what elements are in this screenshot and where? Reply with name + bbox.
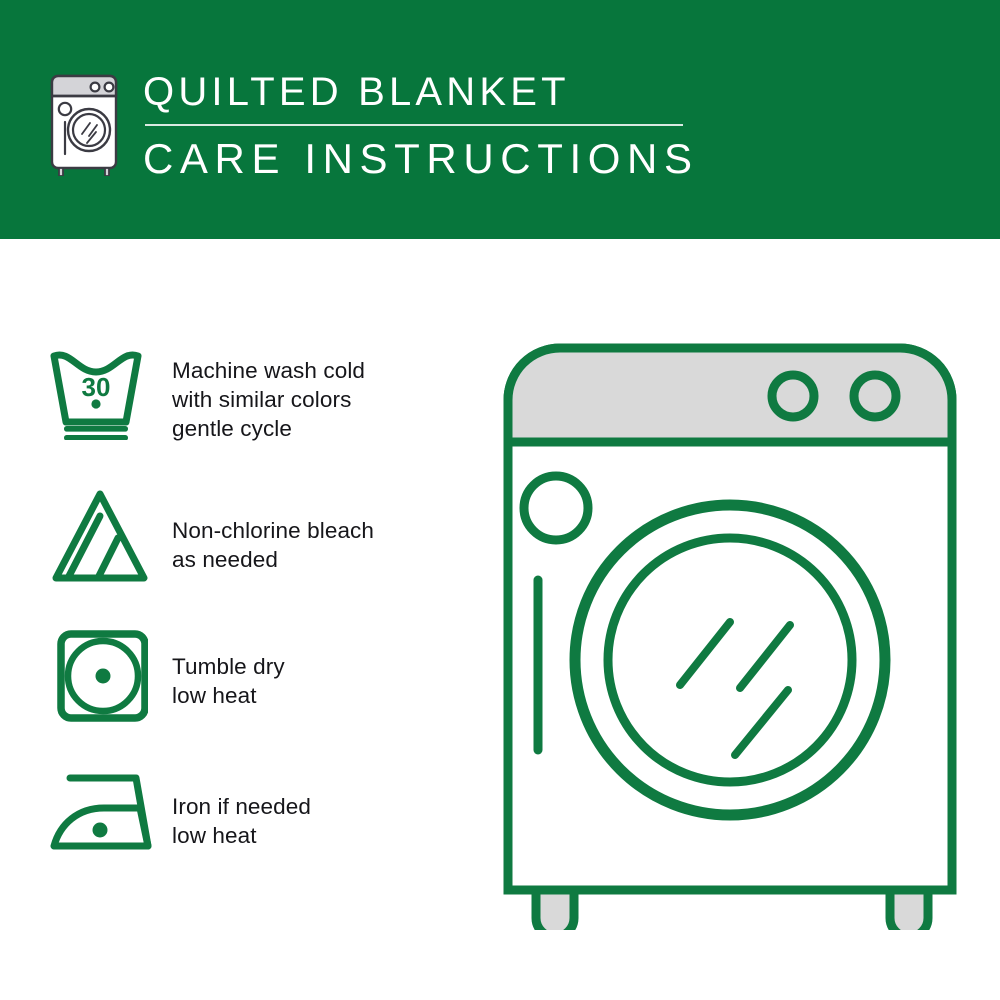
care-text-wash: Machine wash cold with similar colors ge… xyxy=(172,340,365,443)
care-text-line: Non-chlorine bleach xyxy=(172,516,374,545)
care-text-line: as needed xyxy=(172,545,374,574)
header-banner: QUILTED BLANKET CARE INSTRUCTIONS xyxy=(0,0,1000,239)
care-row-iron: Iron if needed low heat xyxy=(48,760,478,900)
care-text-line: Iron if needed xyxy=(172,792,311,821)
care-text-bleach: Non-chlorine bleach as needed xyxy=(172,480,374,574)
care-text-line: Tumble dry xyxy=(172,652,285,681)
header-title-group: QUILTED BLANKET CARE INSTRUCTIONS xyxy=(143,68,763,184)
care-text-line: with similar colors xyxy=(172,385,365,414)
page-title: QUILTED BLANKET xyxy=(143,68,763,116)
care-row-tumble-dry: Tumble dry low heat xyxy=(48,620,478,760)
iron-icon xyxy=(48,760,168,858)
page-subtitle: CARE INSTRUCTIONS xyxy=(143,134,763,184)
care-text-line: low heat xyxy=(172,681,285,710)
bleach-triangle-icon xyxy=(48,480,168,584)
care-instructions-page: QUILTED BLANKET CARE INSTRUCTIONS 30 xyxy=(0,0,1000,1000)
care-row-wash: 30 Machine wash cold with similar colors… xyxy=(48,340,478,480)
care-text-iron: Iron if needed low heat xyxy=(172,760,311,850)
care-instruction-list: 30 Machine wash cold with similar colors… xyxy=(48,340,478,900)
care-text-line: Machine wash cold xyxy=(172,356,365,385)
washing-machine-icon xyxy=(44,72,124,176)
wash-tub-icon: 30 xyxy=(48,340,168,440)
tumble-dry-icon xyxy=(48,620,168,724)
care-row-bleach: Non-chlorine bleach as needed xyxy=(48,480,478,620)
wash-temp-label: 30 xyxy=(82,372,111,402)
care-text-tumble-dry: Tumble dry low heat xyxy=(172,620,285,710)
care-text-line: gentle cycle xyxy=(172,414,365,443)
washing-machine-illustration xyxy=(490,330,970,930)
care-text-line: low heat xyxy=(172,821,311,850)
title-divider xyxy=(145,124,683,126)
